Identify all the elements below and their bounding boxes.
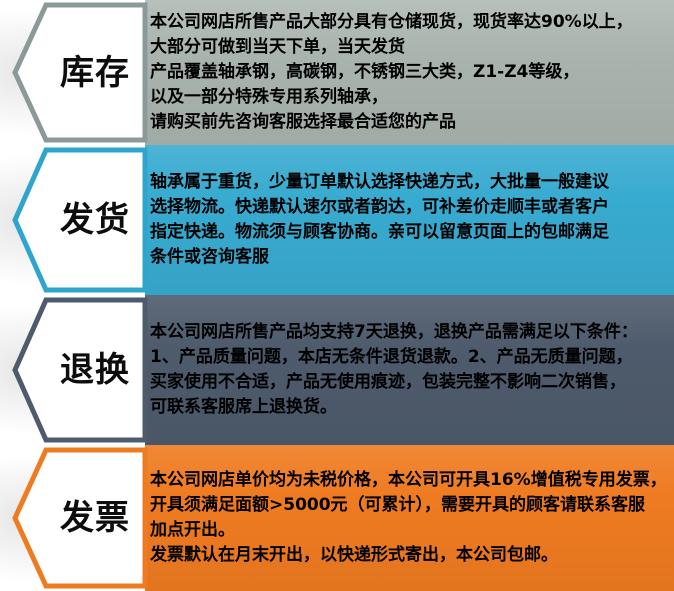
section-stock-line-1: 本公司网店所售产品大部分具有仓储现货，现货率达90%以上，: [150, 10, 666, 35]
hexagon-badge-invoice: 发票: [12, 447, 148, 589]
section-stock-line-5: 请购买前先咨询客服选择最合适您的产品: [150, 110, 666, 135]
section-return-text: 本公司网店所售产品均支持7天退换，退换产品需满足以下条件： 1、产品质量问题，本…: [150, 295, 666, 445]
section-return: 退换 本公司网店所售产品均支持7天退换，退换产品需满足以下条件： 1、产品质量问…: [0, 295, 674, 445]
section-stock-line-4: 以及一部分特殊专用系列轴承，: [150, 85, 666, 110]
section-invoice-line-2: 开具须满足面额>5000元（可累计），需要开具的顾客请联系客服: [150, 493, 666, 518]
section-shipping-line-1: 轴承属于重货，少量订单默认选择快递方式，大批量一般建议: [150, 170, 666, 195]
section-stock-text: 本公司网店所售产品大部分具有仓储现货，现货率达90%以上， 大部分可做到当天下单…: [150, 0, 666, 145]
section-shipping-line-3: 指定快递。物流须与顾客协商。亲可以留意页面上的包邮满足: [150, 220, 666, 245]
section-stock-line-2: 大部分可做到当天下单，当天发货: [150, 35, 666, 60]
badge-label-invoice: 发票: [12, 447, 148, 589]
section-invoice-text: 本公司网店单价均为未税价格，本公司可开具16%增值税专用发票， 开具须满足面额>…: [150, 445, 666, 591]
badge-label-stock: 库存: [12, 2, 148, 143]
section-shipping: 发货 轴承属于重货，少量订单默认选择快递方式，大批量一般建议 选择物流。快递默认…: [0, 145, 674, 295]
section-shipping-text: 轴承属于重货，少量订单默认选择快递方式，大批量一般建议 选择物流。快递默认速尔或…: [150, 145, 666, 295]
section-invoice-line-1: 本公司网店单价均为未税价格，本公司可开具16%增值税专用发票，: [150, 468, 666, 493]
section-invoice: 发票 本公司网店单价均为未税价格，本公司可开具16%增值税专用发票， 开具须满足…: [0, 445, 674, 591]
hexagon-badge-stock: 库存: [12, 2, 148, 143]
badge-label-shipping: 发货: [12, 147, 148, 293]
section-stock-line-3: 产品覆盖轴承钢，高碳钢，不锈钢三大类，Z1-Z4等级，: [150, 60, 666, 85]
hexagon-badge-return: 退换: [12, 297, 148, 443]
section-return-line-1: 本公司网店所售产品均支持7天退换，退换产品需满足以下条件：: [150, 320, 666, 345]
section-stock: 库存 本公司网店所售产品大部分具有仓储现货，现货率达90%以上， 大部分可做到当…: [0, 0, 674, 145]
section-invoice-line-3: 加点开出。: [150, 518, 666, 543]
section-shipping-line-4: 条件或咨询客服: [150, 245, 666, 270]
hexagon-badge-shipping: 发货: [12, 147, 148, 293]
section-return-line-4: 可联系客服席上退换货。: [150, 395, 666, 420]
badge-label-return: 退换: [12, 297, 148, 443]
section-return-line-2: 1、产品质量问题，本店无条件退货退款。2、产品无质量问题，: [150, 345, 666, 370]
service-info-panel: 库存 本公司网店所售产品大部分具有仓储现货，现货率达90%以上， 大部分可做到当…: [0, 0, 674, 591]
section-return-line-3: 买家使用不合适，产品无使用痕迹，包装完整不影响二次销售，: [150, 370, 666, 395]
section-invoice-line-4: 发票默认在月末开出，以快递形式寄出，本公司包邮。: [150, 543, 666, 568]
section-shipping-line-2: 选择物流。快递默认速尔或者韵达，可补差价走顺丰或者客户: [150, 195, 666, 220]
